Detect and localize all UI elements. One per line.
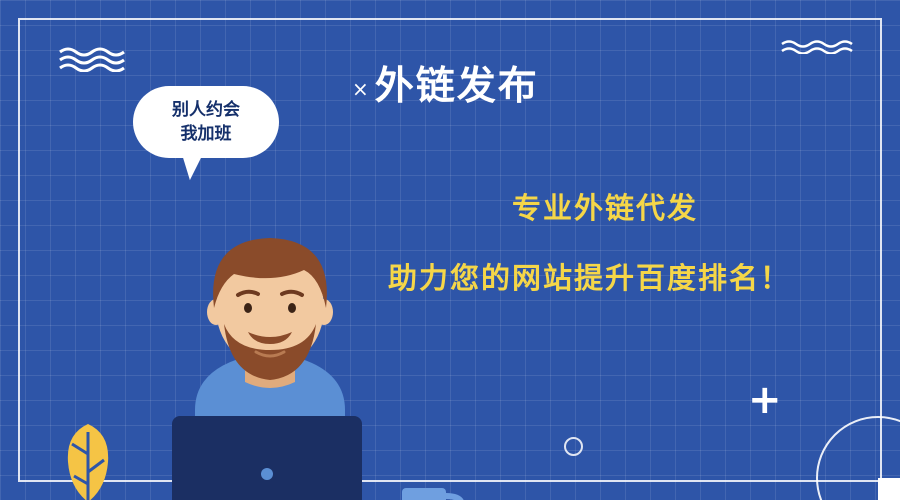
circle-outline-icon — [564, 437, 583, 456]
coffee-mug-icon — [402, 488, 462, 500]
plus-icon: + — [748, 380, 782, 420]
wave-lines-icon — [58, 46, 126, 72]
wave-lines-icon — [780, 38, 860, 54]
potted-plant-icon — [66, 424, 110, 500]
poster-canvas: ×外链发布 专业外链代发 助力您的网站提升百度排名！ 别人约会 我加班 + — [0, 0, 900, 500]
corner-mask — [878, 478, 900, 500]
man-at-laptop-illustration — [0, 80, 560, 500]
laptop-icon — [172, 416, 362, 500]
